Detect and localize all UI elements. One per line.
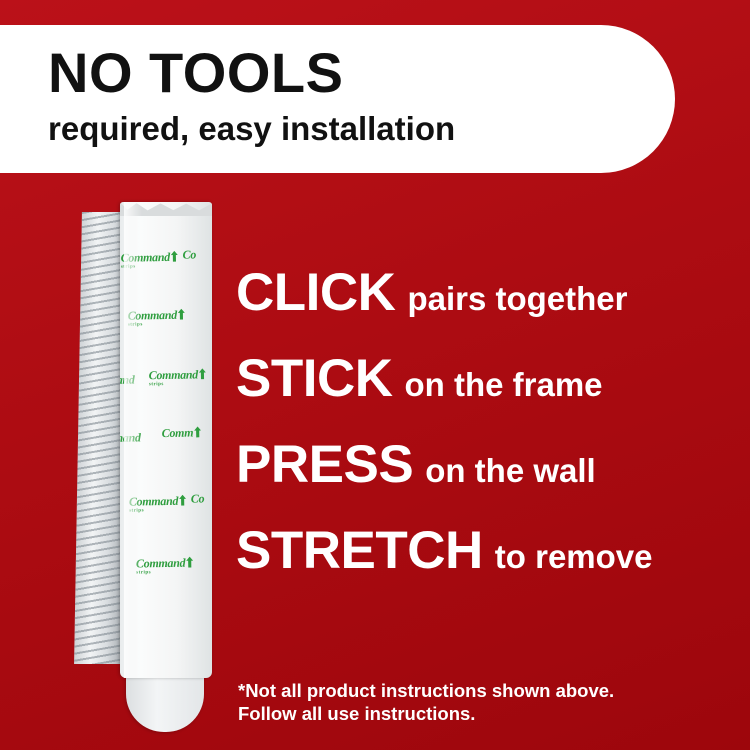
promo-graphic: NO TOOLS required, easy installation Com…	[0, 0, 750, 750]
product-illustration: Commandstrips Co Commandstrips and Comma…	[78, 198, 218, 738]
list-item: CLICK pairs together	[236, 262, 736, 330]
step-action-click: CLICK	[236, 262, 395, 324]
brand-logo-sub: strips	[129, 508, 186, 514]
strip-pull-tab	[126, 670, 204, 732]
brand-logo-pattern: Commandstrips Co Commandstrips and Comma…	[120, 211, 212, 678]
brand-logo: Commandstrips	[128, 308, 186, 328]
brand-logo-sub: strips	[128, 322, 185, 328]
brand-logo-text: mand	[120, 430, 141, 444]
footnote-line-2: Follow all use instructions.	[238, 702, 708, 725]
brand-logo-text: Co	[191, 491, 205, 505]
brand-logo: and	[120, 373, 135, 388]
command-hook-icon	[171, 251, 178, 262]
brand-logo: Comm	[162, 425, 202, 441]
brand-logo: Commandstrips	[149, 367, 207, 387]
brand-logo-text: Co	[182, 247, 196, 261]
command-hook-icon	[186, 557, 193, 568]
headline-banner: NO TOOLS required, easy installation	[0, 25, 675, 173]
footnote-line-1: *Not all product instructions shown abov…	[238, 679, 708, 702]
brand-logo-text: and	[120, 373, 135, 387]
brand-logo-sub: strips	[149, 381, 206, 387]
brand-logo-sub: strips	[121, 264, 178, 270]
brand-logo: Commandstrips	[129, 494, 187, 514]
footnote: *Not all product instructions shown abov…	[238, 679, 708, 725]
step-action-stick: STICK	[236, 348, 393, 410]
list-item: STRETCH to remove	[236, 520, 736, 588]
step-desc-press: on the wall	[425, 440, 596, 502]
brand-logo-text: Command	[149, 367, 198, 382]
brand-logo-sub: strips	[136, 570, 193, 576]
brand-logo: mand	[120, 430, 141, 445]
brand-logo-text: Command	[128, 308, 177, 323]
command-hook-icon	[178, 309, 185, 320]
adhesive-strip-front: Commandstrips Co Commandstrips and Comma…	[120, 202, 212, 678]
brand-logo: Co	[191, 491, 205, 506]
brand-logo: Co	[182, 247, 196, 262]
command-hook-icon	[194, 426, 201, 437]
steps-list: CLICK pairs together STICK on the frame …	[236, 262, 736, 606]
step-desc-click: pairs together	[407, 268, 627, 330]
page-subtitle: required, easy installation	[48, 109, 675, 149]
brand-logo: Commandstrips	[121, 250, 179, 270]
step-action-press: PRESS	[236, 434, 413, 496]
brand-logo-text: Command	[121, 250, 170, 265]
step-desc-stick: on the frame	[405, 354, 603, 416]
brand-logo: Commandstrips	[136, 556, 194, 576]
step-action-stretch: STRETCH	[236, 520, 483, 582]
brand-logo-text: Command	[136, 556, 185, 571]
brand-logo-text: Command	[129, 494, 178, 509]
list-item: STICK on the frame	[236, 348, 736, 416]
list-item: PRESS on the wall	[236, 434, 736, 502]
brand-logo-text: Comm	[162, 426, 194, 441]
command-hook-icon	[179, 495, 186, 506]
command-hook-icon	[199, 368, 206, 379]
page-title: NO TOOLS	[48, 43, 675, 103]
step-desc-stretch: to remove	[495, 526, 653, 588]
